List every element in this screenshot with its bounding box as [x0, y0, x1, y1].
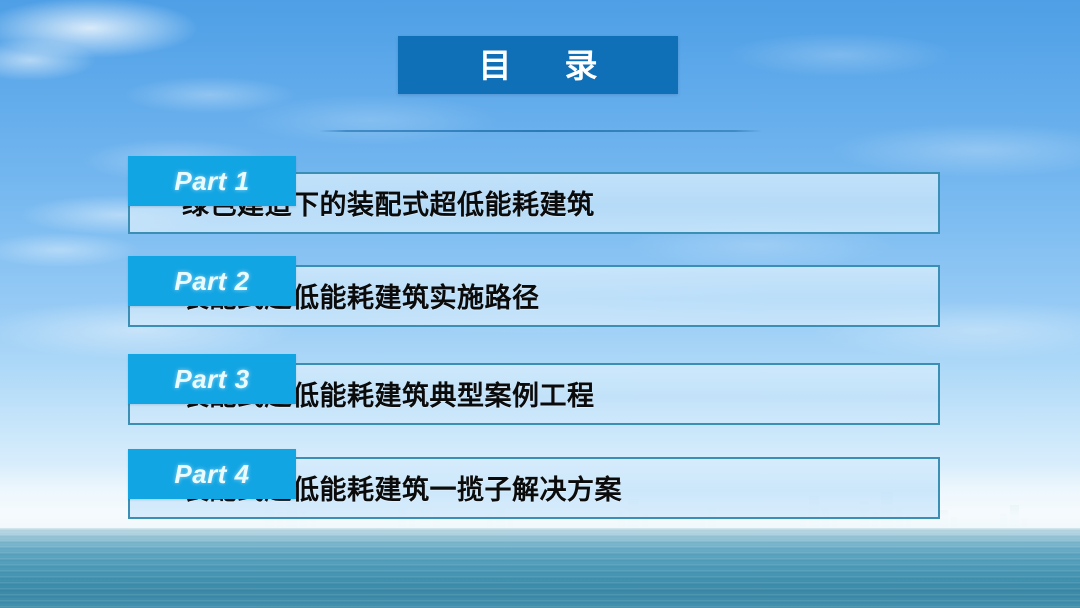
presentation-slide: 目 录 绿色建造下的装配式超低能耗建筑 Part 1 装配式超低能耗建筑实施路径…	[0, 0, 1080, 608]
toc-part-badge[interactable]: Part 4	[128, 449, 296, 499]
toc-part-badge[interactable]: Part 1	[128, 156, 296, 206]
toc-part-badge-label: Part 4	[174, 461, 249, 487]
toc-part-badge[interactable]: Part 2	[128, 256, 296, 306]
table-of-contents-list: 绿色建造下的装配式超低能耗建筑 Part 1 装配式超低能耗建筑实施路径 Par…	[0, 0, 1080, 608]
toc-part-badge-label: Part 1	[174, 168, 249, 194]
toc-part-badge-label: Part 2	[174, 268, 249, 294]
toc-part-badge[interactable]: Part 3	[128, 354, 296, 404]
toc-part-badge-label: Part 3	[174, 366, 249, 392]
